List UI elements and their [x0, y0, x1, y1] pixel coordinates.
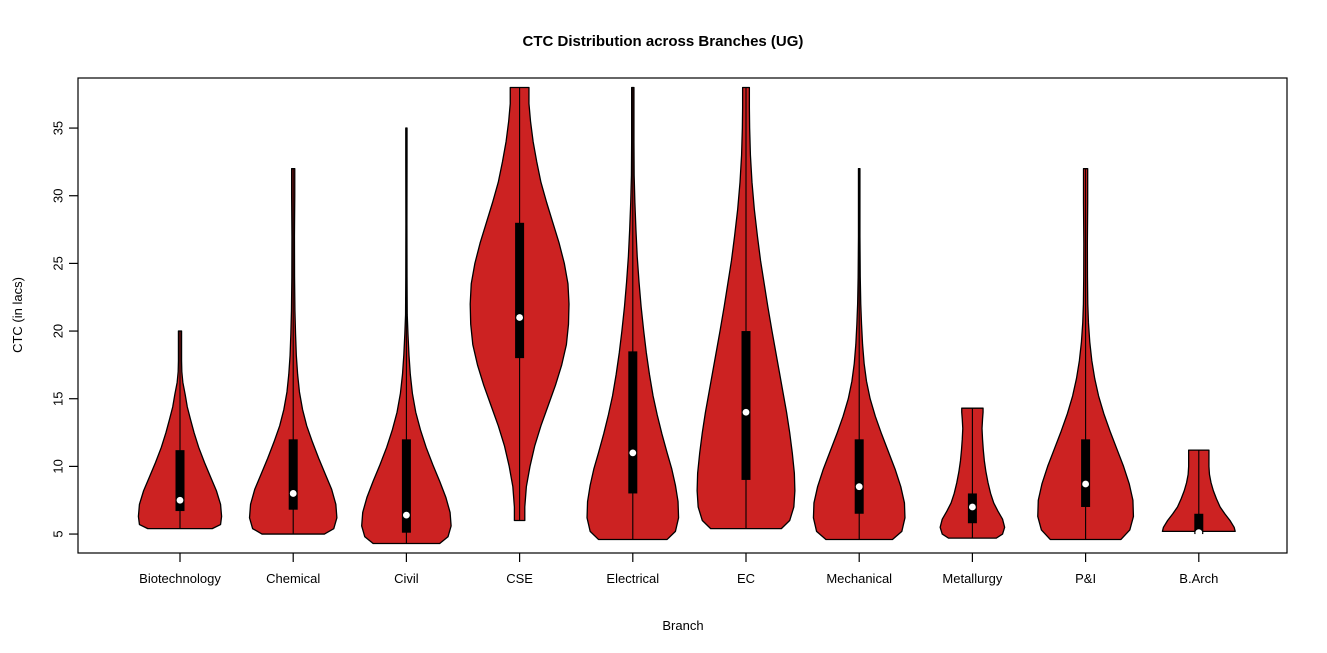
y-axis-label: CTC (in lacs): [10, 277, 25, 353]
violin-iqr-box: [289, 439, 298, 509]
violin-median-point: [629, 449, 636, 456]
y-tick-label: 35: [51, 121, 66, 135]
violin-plot-canvas: CTC Distribution across Branches (UG) CT…: [0, 0, 1327, 653]
y-tick-label: 30: [51, 189, 66, 203]
x-tick-label-p-i: P&I: [1075, 571, 1096, 586]
y-tick-label: 15: [51, 391, 66, 405]
violin-iqr-box: [515, 223, 524, 358]
y-tick-label: 20: [51, 324, 66, 338]
violin-median-point: [403, 512, 410, 519]
x-tick-label-chemical: Chemical: [266, 571, 320, 586]
x-axis-label: Branch: [662, 618, 703, 633]
violin-iqr-box: [742, 331, 751, 480]
x-tick-label-electrical: Electrical: [606, 571, 659, 586]
plot-background: [0, 0, 1327, 653]
x-tick-label-cse: CSE: [506, 571, 533, 586]
x-tick-label-mechanical: Mechanical: [826, 571, 892, 586]
violin-iqr-box: [855, 439, 864, 513]
violin-median-point: [177, 497, 184, 504]
violin-median-point: [290, 490, 297, 497]
violin-iqr-box: [1081, 439, 1090, 507]
x-tick-label-ec: EC: [737, 571, 755, 586]
x-tick-label-metallurgy: Metallurgy: [942, 571, 1002, 586]
y-tick-label: 25: [51, 256, 66, 270]
violin-iqr-box: [402, 439, 411, 532]
violin-median-point: [856, 483, 863, 490]
y-tick-label: 10: [51, 459, 66, 473]
x-tick-label-biotechnology: Biotechnology: [139, 571, 221, 586]
y-tick-label: 5: [51, 530, 66, 537]
x-tick-label-b-arch: B.Arch: [1179, 571, 1218, 586]
violin-median-point: [516, 314, 523, 321]
violin-iqr-box: [628, 351, 637, 493]
violin-median-point: [1195, 529, 1202, 536]
x-tick-label-civil: Civil: [394, 571, 419, 586]
violin-plot-figure: CTC Distribution across Branches (UG) CT…: [0, 0, 1327, 653]
violin-median-point: [1082, 481, 1089, 488]
violin-median-point: [969, 504, 976, 511]
chart-title: CTC Distribution across Branches (UG): [523, 33, 804, 50]
violin-median-point: [743, 409, 750, 416]
